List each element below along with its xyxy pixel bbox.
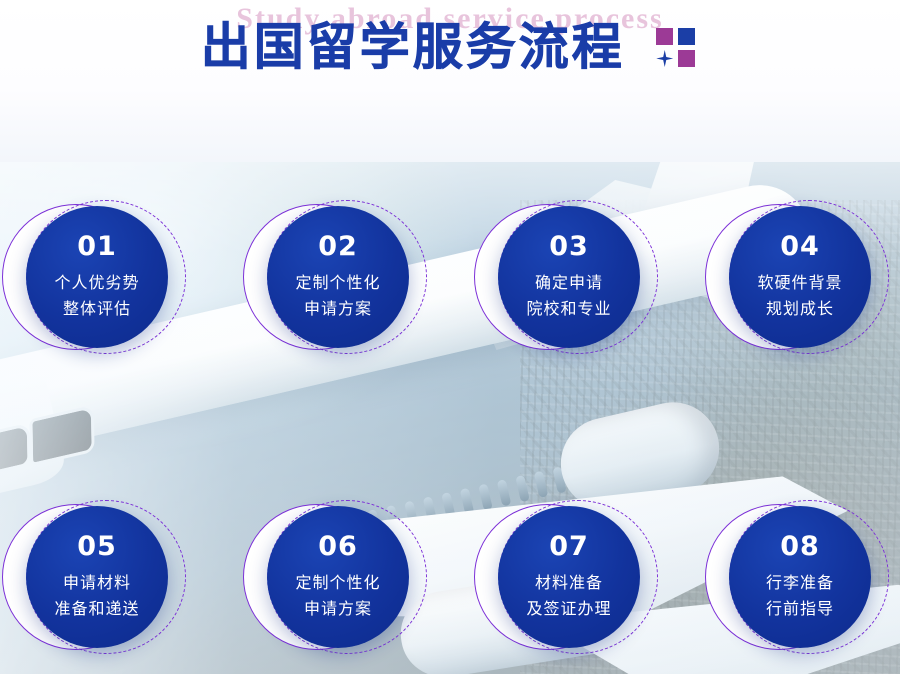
step-item-05[interactable]: 05 申请材料 准备和递送 [2,500,198,656]
step-blue-disc[interactable]: 03 确定申请 院校和专业 [498,206,640,348]
step-label-line1: 个人优劣势 [54,270,139,296]
step-label-line1: 定制个性化 [295,570,380,596]
step-label-line2: 准备和递送 [54,596,139,622]
step-number: 08 [780,532,820,562]
step-item-02[interactable]: 02 定制个性化 申请方案 [243,200,439,356]
step-number: 03 [549,232,589,262]
step-item-04[interactable]: 04 软硬件背景 规划成长 [705,200,900,356]
page-title: 出国留学服务流程 [0,18,900,76]
step-number: 06 [318,532,358,562]
step-number: 02 [318,232,358,262]
step-label-line2: 院校和专业 [526,296,611,322]
step-blue-disc[interactable]: 01 个人优劣势 整体评估 [26,206,168,348]
purple-square-icon [678,50,695,67]
step-label-line2: 及签证办理 [526,596,611,622]
step-item-03[interactable]: 03 确定申请 院校和专业 [474,200,670,356]
step-number: 01 [77,232,117,262]
step-item-08[interactable]: 08 行李准备 行前指导 [705,500,900,656]
step-blue-disc[interactable]: 02 定制个性化 申请方案 [267,206,409,348]
step-blue-disc[interactable]: 08 行李准备 行前指导 [729,506,871,648]
step-label-line2: 整体评估 [63,296,131,322]
step-label-line1: 材料准备 [535,570,603,596]
title-decoration-group [655,27,699,71]
step-item-01[interactable]: 01 个人优劣势 整体评估 [2,200,198,356]
step-label-line2: 行前指导 [766,596,834,622]
step-blue-disc[interactable]: 04 软硬件背景 规划成长 [729,206,871,348]
step-number: 07 [549,532,589,562]
step-label-line2: 申请方案 [304,596,372,622]
step-blue-disc[interactable]: 06 定制个性化 申请方案 [267,506,409,648]
step-label-line1: 软硬件背景 [757,270,842,296]
header-band: Study abroad service process 出国留学服务流程 [0,0,900,162]
step-label-line2: 申请方案 [304,296,372,322]
step-label-line1: 申请材料 [63,570,131,596]
step-item-07[interactable]: 07 材料准备 及签证办理 [474,500,670,656]
sparkle-star-icon [656,50,673,67]
step-label-line1: 确定申请 [535,270,603,296]
step-label-line1: 定制个性化 [295,270,380,296]
title-chinese-text: 出国留学服务流程 [201,18,625,76]
infographic-poster: Study abroad service process 出国留学服务流程 01… [0,0,900,674]
step-number: 04 [780,232,820,262]
blue-square-icon [678,28,695,45]
step-number: 05 [77,532,117,562]
step-label-line1: 行李准备 [766,570,834,596]
step-blue-disc[interactable]: 05 申请材料 准备和递送 [26,506,168,648]
purple-square-icon [656,28,673,45]
step-item-06[interactable]: 06 定制个性化 申请方案 [243,500,439,656]
step-label-line2: 规划成长 [766,296,834,322]
title-block: Study abroad service process 出国留学服务流程 [0,0,900,100]
step-blue-disc[interactable]: 07 材料准备 及签证办理 [498,506,640,648]
